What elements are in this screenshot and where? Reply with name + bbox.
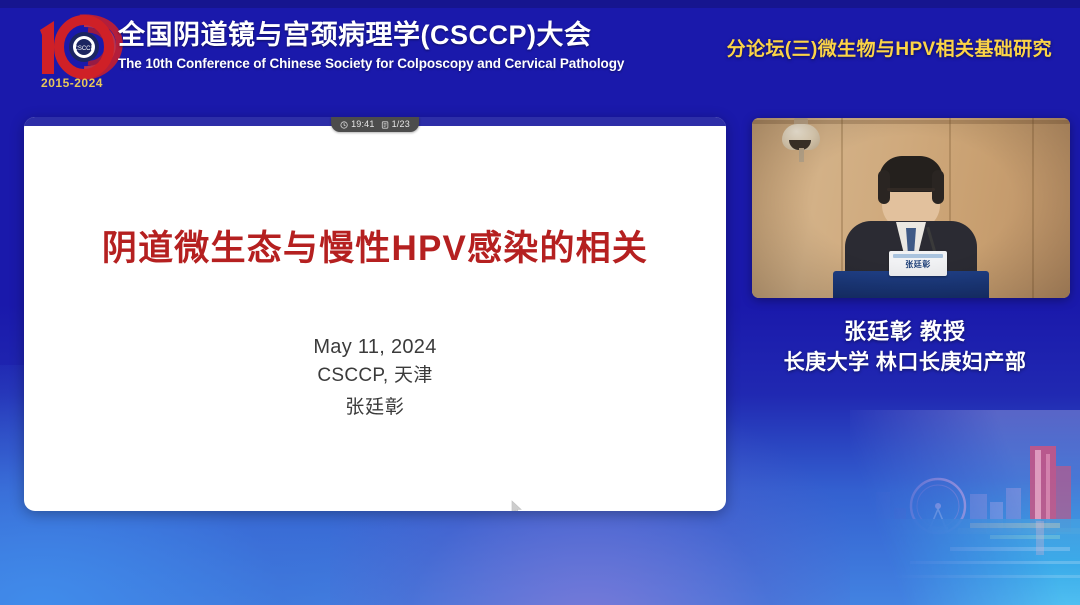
slide-viewer[interactable]: 19:41 1/23 阴道微生态与慢性HPV感染的相关 May 11, 2024… xyxy=(24,117,726,511)
page-header: CSCCP 2015-2024 全国阴道镜与宫颈病理学(CSCCP)大会 The… xyxy=(0,0,1080,100)
slide-title: 阴道微生态与慢性HPV感染的相关 xyxy=(102,228,648,270)
conference-logo: CSCCP 2015-2024 xyxy=(18,8,130,92)
speaker-video-feed[interactable]: 张廷彰 xyxy=(752,118,1070,298)
logo-years: 2015-2024 xyxy=(41,76,103,90)
slide-date: May 11, 2024 xyxy=(313,332,436,362)
conference-title-chinese: 全国阴道镜与宫颈病理学(CSCCP)大会 xyxy=(118,20,638,52)
session-title: 分论坛(三)微生物与HPV相关基础研究 xyxy=(727,34,1052,61)
speaker-name: 张廷彰 教授 xyxy=(740,316,1070,348)
video-vignette xyxy=(752,118,1070,298)
svg-text:CSCCP: CSCCP xyxy=(73,46,94,52)
speaker-affiliation: 长庚大学 林口长庚妇产部 xyxy=(740,348,1070,378)
tianjin-skyline-art xyxy=(850,410,1080,605)
slide-content: 阴道微生态与慢性HPV感染的相关 May 11, 2024 CSCCP, 天津 … xyxy=(24,126,726,511)
slide-meta-block: May 11, 2024 CSCCP, 天津 张廷彰 xyxy=(313,332,436,423)
slide-author: 张廷彰 xyxy=(313,393,436,423)
slide-venue: CSCCP, 天津 xyxy=(313,362,436,391)
logo-icon: CSCCP 2015-2024 xyxy=(18,8,130,92)
webinar-screen: CSCCP 2015-2024 全国阴道镜与宫颈病理学(CSCCP)大会 The… xyxy=(0,0,1080,605)
conference-title-block: 全国阴道镜与宫颈病理学(CSCCP)大会 The 10th Conference… xyxy=(118,20,638,73)
river-water xyxy=(850,519,1080,605)
conference-title-english: The 10th Conference of Chinese Society f… xyxy=(118,56,638,73)
speaker-caption: 张廷彰 教授 长庚大学 林口长庚妇产部 xyxy=(740,316,1070,378)
skyline-illustration xyxy=(850,410,1080,605)
water-reflections xyxy=(850,515,1080,605)
